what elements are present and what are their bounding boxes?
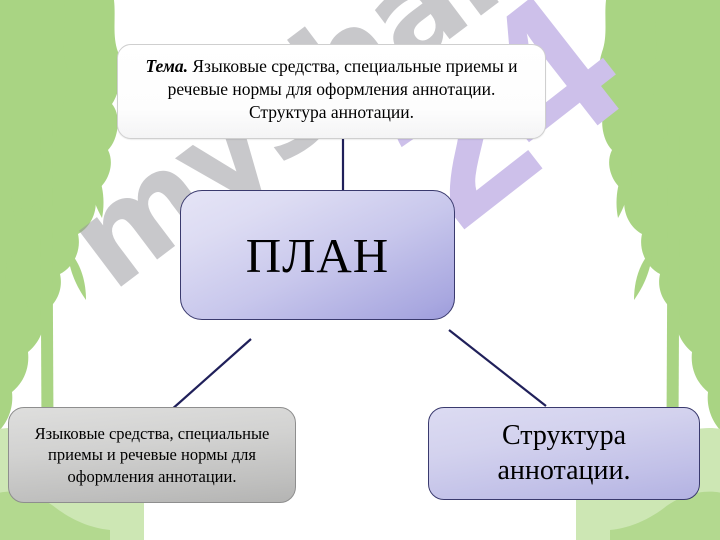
plan-box[interactable]: ПЛАН xyxy=(180,190,455,320)
plan-label: ПЛАН xyxy=(246,231,389,280)
annotation-structure-box[interactable]: Структура аннотации. xyxy=(428,407,700,500)
language-means-label: Языковые средства, специальные приемы и … xyxy=(17,423,287,486)
topic-box[interactable]: Тема. Языковые средства, специальные при… xyxy=(117,44,546,139)
slide-canvas: 24 myshared Тема. Языковые средства, спе… xyxy=(0,0,720,540)
topic-lead-label: Тема. xyxy=(145,56,188,76)
connector-plan-to-means xyxy=(170,339,251,411)
language-means-box[interactable]: Языковые средства, специальные приемы и … xyxy=(8,407,296,503)
topic-body-label: Языковые средства, специальные приемы и … xyxy=(168,56,518,122)
annotation-structure-label: Структура аннотации. xyxy=(439,419,689,487)
connector-plan-to-structure xyxy=(449,330,546,406)
topic-text: Тема. Языковые средства, специальные при… xyxy=(130,55,533,124)
